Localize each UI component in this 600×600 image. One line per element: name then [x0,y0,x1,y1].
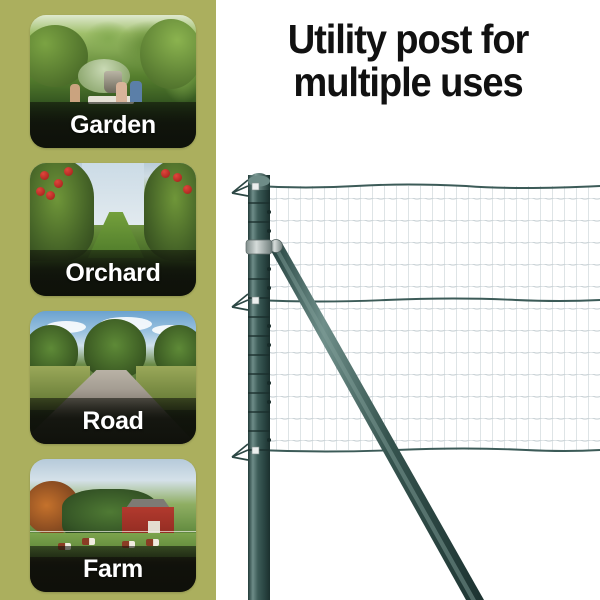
use-case-label-orchard: Orchard [30,250,196,296]
use-case-card-list: Garden [30,15,196,600]
use-case-card-garden[interactable]: Garden [30,15,196,148]
use-case-label-text: Garden [70,111,156,140]
use-case-card-road[interactable]: Road [30,311,196,444]
brace-clamp [246,240,272,254]
use-case-panel: Garden [0,0,216,600]
product-poster: Garden [0,0,600,600]
use-case-label-garden: Garden [30,102,196,148]
use-case-label-text: Road [82,407,143,436]
use-case-card-farm[interactable]: Farm [30,459,196,592]
fence-post-illustration [216,0,600,600]
use-case-card-orchard[interactable]: Orchard [30,163,196,296]
product-showcase: Utility post for multiple uses [216,0,600,600]
use-case-label-farm: Farm [30,546,196,592]
use-case-label-road: Road [30,398,196,444]
use-case-label-text: Orchard [65,259,160,288]
use-case-label-text: Farm [83,555,143,584]
line-post [232,173,272,600]
